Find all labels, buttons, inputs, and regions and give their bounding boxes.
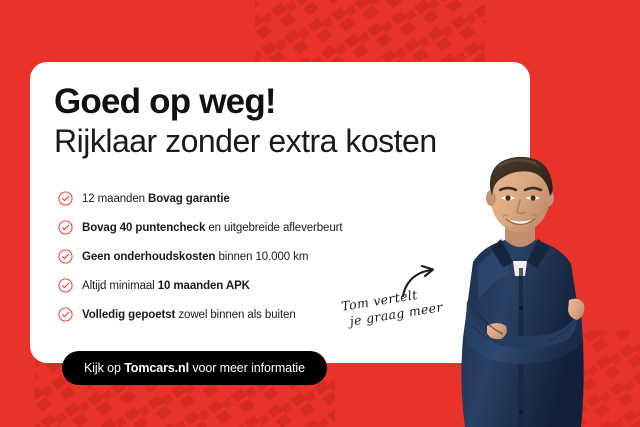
promo-banner: Goed op weg! Rijklaar zonder extra koste… — [0, 0, 640, 427]
smiling-man-arms-crossed-photo — [443, 150, 640, 427]
benefit-label: Bovag 40 puntencheck en uitgebreide afle… — [82, 222, 342, 234]
check-circle-icon — [58, 191, 73, 206]
benefit-label: Geen onderhoudskosten binnen 10.000 km — [82, 251, 308, 263]
list-item: 12 maanden Bovag garantie — [58, 184, 478, 213]
cta-button-label: Kijk op Tomcars.nl voor meer informatie — [84, 361, 305, 375]
check-circle-icon — [58, 278, 73, 293]
benefit-label: Volledig gepoetst zowel binnen als buite… — [82, 309, 296, 321]
check-circle-icon — [58, 249, 73, 264]
benefit-label: Altijd minimaal 10 maanden APK — [82, 280, 250, 292]
check-circle-icon — [58, 307, 73, 322]
list-item: Bovag 40 puntencheck en uitgebreide afle… — [58, 213, 478, 242]
page-title: Goed op weg! Rijklaar zonder extra koste… — [54, 82, 524, 160]
benefit-label: 12 maanden Bovag garantie — [82, 193, 230, 205]
headline-line-1: Goed op weg! — [54, 82, 524, 122]
check-circle-icon — [58, 220, 73, 235]
cta-button[interactable]: Kijk op Tomcars.nl voor meer informatie — [62, 351, 327, 385]
